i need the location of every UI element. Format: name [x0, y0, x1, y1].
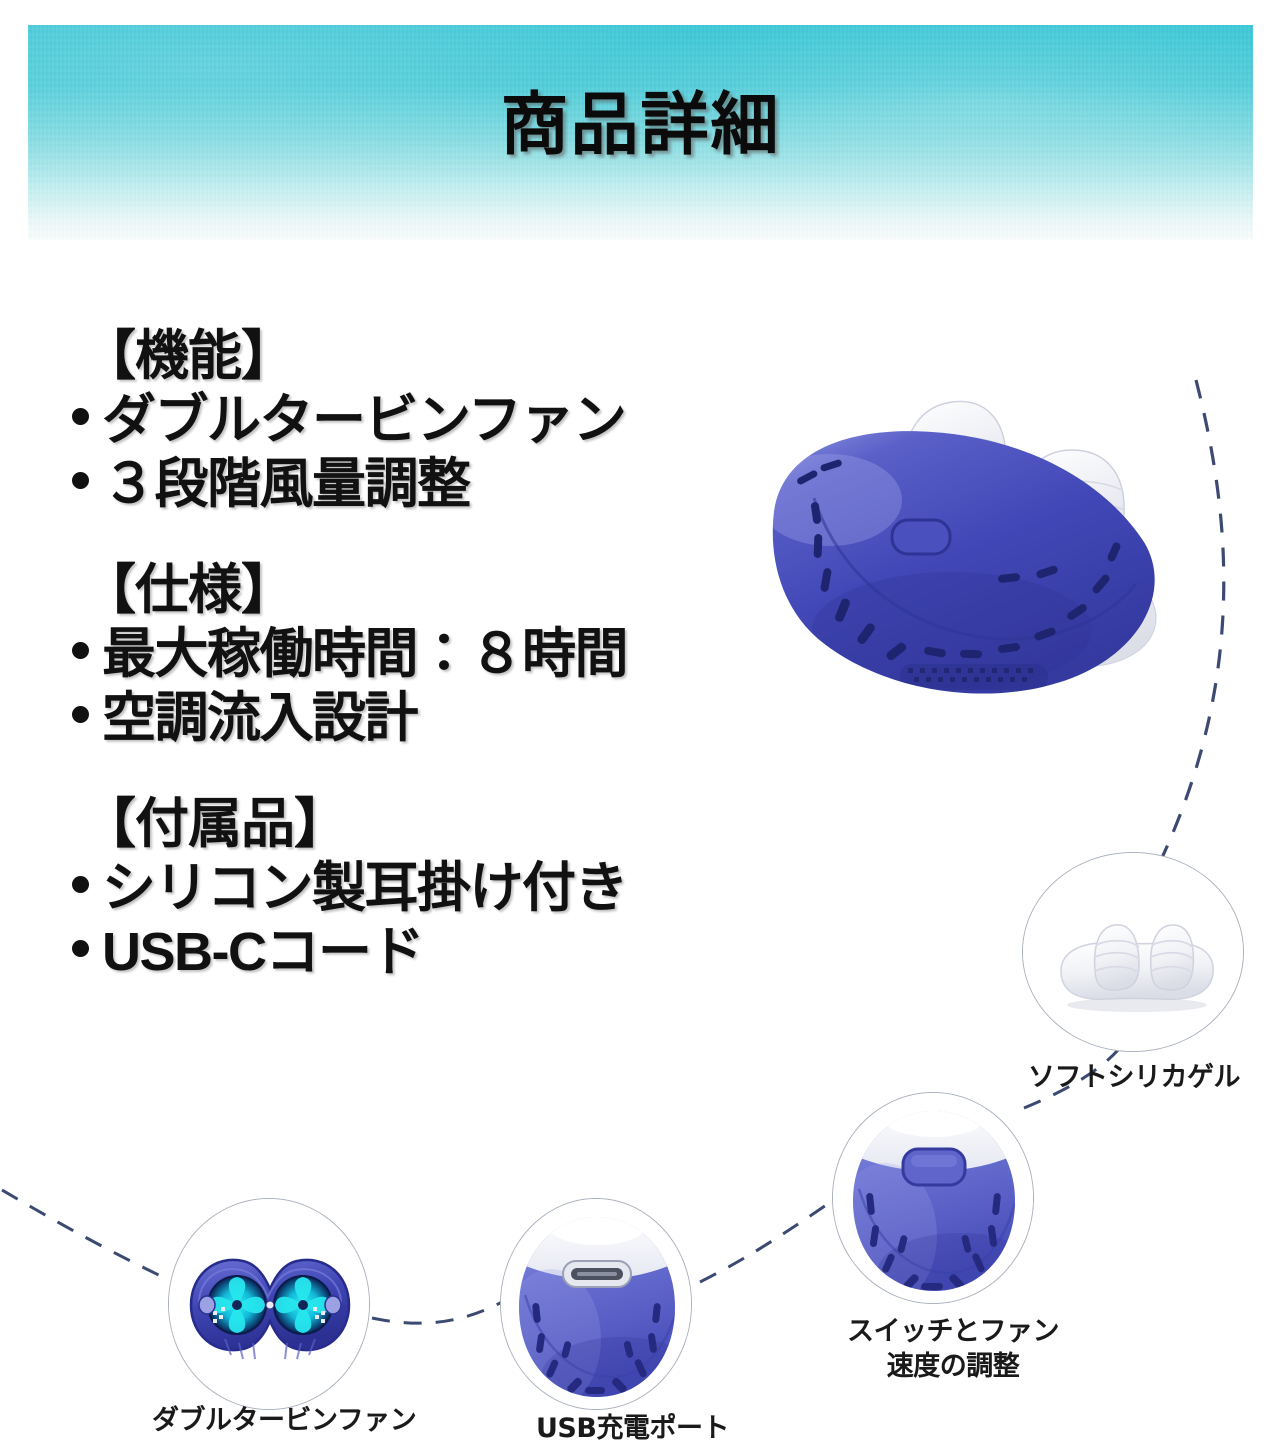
- dashed-line-fans-to-usb: [372, 1300, 506, 1323]
- usb-c-port-icon: [563, 1261, 631, 1287]
- callout-caption-switch-line2: 速度の調整: [838, 1350, 1068, 1385]
- callout-double-turbine-fans: [168, 1198, 370, 1410]
- bullet-icon: [72, 642, 89, 659]
- spec-item: ダブルタービンファン: [72, 388, 812, 452]
- bullet-icon: [72, 706, 89, 723]
- spec-item-label: 空調流入設計: [102, 686, 417, 750]
- power-button[interactable]: [892, 520, 950, 554]
- turbine-fans-illustration: [169, 1199, 370, 1410]
- callout-soft-silica-gel: [1022, 852, 1244, 1052]
- spec-heading: 【付属品】: [82, 794, 812, 856]
- spec-item: シリコン製耳掛け付き: [72, 856, 812, 920]
- bullet-icon: [72, 940, 89, 957]
- mesh-grille: [900, 664, 1048, 690]
- hero-product-image: [752, 392, 1212, 722]
- switch-button-illustration: [833, 1093, 1034, 1304]
- page-title: 商品詳細: [28, 91, 1253, 159]
- anti-snore-device-illustration: [752, 392, 1212, 722]
- callout-caption-switch: スイッチとファン 速度の調整: [838, 1315, 1068, 1384]
- spec-item: 最大稼働時間：８時間: [72, 622, 812, 686]
- spec-group-features: 【機能】 ダブルタービンファン ３段階風量調整: [72, 326, 812, 516]
- header-banner: 商品詳細: [28, 25, 1253, 240]
- spec-item-label: ３段階風量調整: [102, 452, 470, 516]
- callout-switch-and-fan-speed: [832, 1092, 1034, 1304]
- bullet-icon: [72, 876, 89, 893]
- callout-caption-switch-line1: スイッチとファン: [838, 1315, 1068, 1350]
- turbine-right: [273, 1275, 333, 1335]
- callout-caption-usb: USB充電ポート: [536, 1406, 729, 1445]
- spec-group-specifications: 【仕様】 最大稼働時間：８時間 空調流入設計: [72, 560, 812, 750]
- spec-item: 空調流入設計: [72, 686, 812, 750]
- usb-port-illustration: [501, 1199, 692, 1410]
- bullet-icon: [72, 408, 89, 425]
- silicone-earpiece-illustration: [1023, 853, 1244, 1052]
- callout-caption-fans: ダブルタービンファン: [152, 1398, 416, 1437]
- spec-list: 【機能】 ダブルタービンファン ３段階風量調整 【仕様】 最大稼働時間：８時間 …: [72, 326, 812, 984]
- spec-heading: 【機能】: [82, 326, 812, 388]
- spec-heading: 【仕様】: [82, 560, 812, 622]
- spec-item: ３段階風量調整: [72, 452, 812, 516]
- bullet-icon: [72, 472, 89, 489]
- callout-caption-silica: ソフトシリカゲル: [1028, 1055, 1240, 1094]
- dashed-line-usb-to-switch: [700, 1196, 840, 1282]
- spec-item-label: シリコン製耳掛け付き: [102, 856, 627, 920]
- spec-item-label: ダブルタービンファン: [102, 388, 625, 452]
- callout-usb-charging-port: [500, 1198, 692, 1410]
- turbine-left: [207, 1275, 267, 1335]
- spec-item-label: USB-Cコード: [102, 920, 423, 984]
- spec-item-label: 最大稼働時間：８時間: [102, 622, 627, 686]
- dashed-line-left-edge-to-fans: [2, 1190, 196, 1292]
- spec-item: USB-Cコード: [72, 920, 812, 984]
- spec-group-accessories: 【付属品】 シリコン製耳掛け付き USB-Cコード: [72, 794, 812, 984]
